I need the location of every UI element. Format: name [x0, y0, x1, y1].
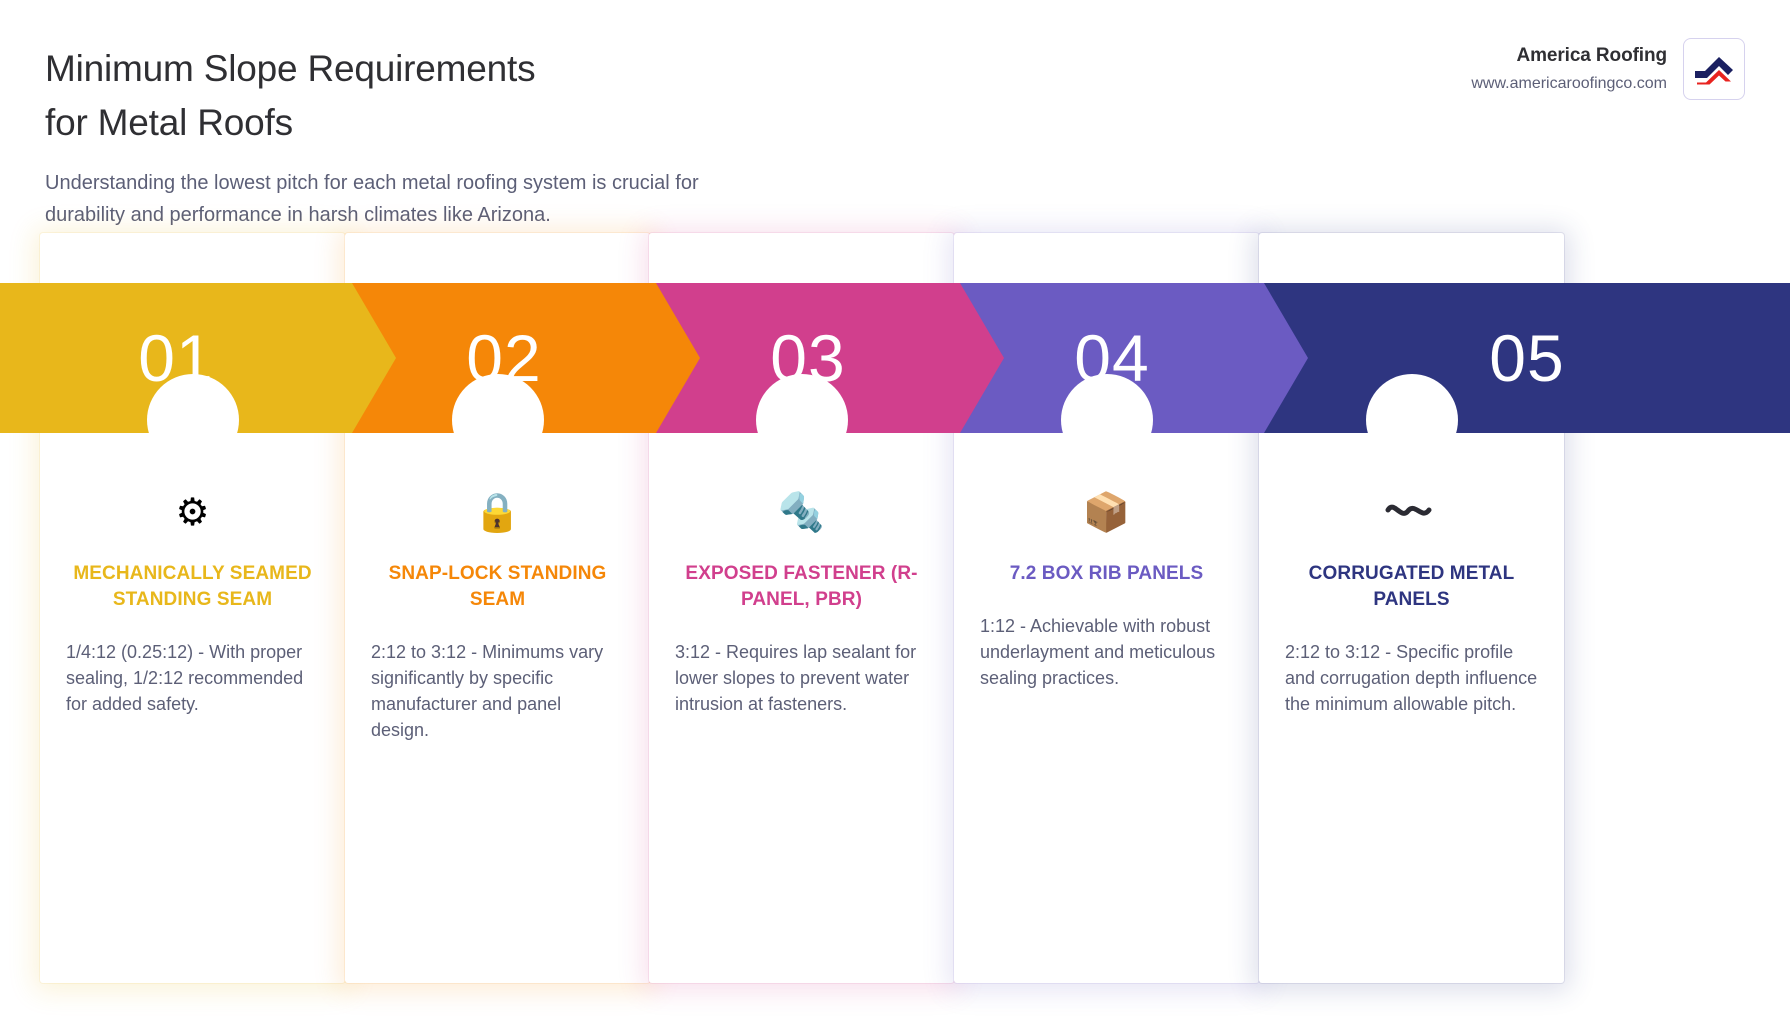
step-card-description: 1/4:12 (0.25:12) - With proper sealing, … — [62, 639, 323, 717]
steps-cards: ⚙MECHANICALLY SEAMED STANDING SEAM1/4:12… — [0, 233, 1790, 1024]
step-card-description: 2:12 to 3:12 - Specific profile and corr… — [1281, 639, 1542, 717]
brand-url: www.americaroofingco.com — [1471, 72, 1667, 96]
title-block: Minimum Slope Requirements for Metal Roo… — [45, 42, 805, 231]
step-card-body: 📦7.2 BOX RIB PANELS1:12 - Achievable wit… — [954, 485, 1259, 691]
step-card-body: 🔒SNAP-LOCK STANDING SEAM2:12 to 3:12 - M… — [345, 485, 650, 743]
step-card-description: 1:12 - Achievable with robust underlayme… — [976, 613, 1237, 691]
step-card-body: 🔩EXPOSED FASTENER (R-PANEL, PBR)3:12 - R… — [649, 485, 954, 717]
step-card-03[interactable]: 🔩EXPOSED FASTENER (R-PANEL, PBR)3:12 - R… — [649, 233, 954, 983]
roof-logo-icon — [1683, 38, 1745, 100]
step-card-body: ⚙MECHANICALLY SEAMED STANDING SEAM1/4:12… — [40, 485, 345, 717]
step-card-body: CORRUGATED METAL PANELS2:12 to 3:12 - Sp… — [1259, 485, 1564, 717]
brand-text: America Roofing www.americaroofingco.com — [1471, 43, 1667, 96]
step-card-title: MECHANICALLY SEAMED STANDING SEAM — [62, 561, 323, 613]
brand-name: America Roofing — [1471, 43, 1667, 69]
step-card-description: 2:12 to 3:12 - Minimums vary significant… — [367, 639, 628, 743]
header: Minimum Slope Requirements for Metal Roo… — [0, 0, 1790, 233]
step-card-title: EXPOSED FASTENER (R-PANEL, PBR) — [671, 561, 932, 613]
page-subtitle: Understanding the lowest pitch for each … — [45, 167, 705, 231]
nut-and-bolt-icon: 🔩 — [671, 485, 932, 541]
padlock-icon: 🔒 — [367, 485, 628, 541]
gear-icon: ⚙ — [62, 485, 323, 541]
page-title-line-1: Minimum Slope Requirements — [45, 42, 805, 96]
step-card-05[interactable]: CORRUGATED METAL PANELS2:12 to 3:12 - Sp… — [1259, 233, 1564, 983]
step-card-title: SNAP-LOCK STANDING SEAM — [367, 561, 628, 613]
step-card-01[interactable]: ⚙MECHANICALLY SEAMED STANDING SEAM1/4:12… — [40, 233, 345, 983]
infographic-page: Minimum Slope Requirements for Metal Roo… — [0, 0, 1790, 1024]
step-card-02[interactable]: 🔒SNAP-LOCK STANDING SEAM2:12 to 3:12 - M… — [345, 233, 650, 983]
step-card-title: 7.2 BOX RIB PANELS — [976, 561, 1237, 587]
page-title-line-2: for Metal Roofs — [45, 96, 805, 150]
step-card-description: 3:12 - Requires lap sealant for lower sl… — [671, 639, 932, 717]
step-card-04[interactable]: 📦7.2 BOX RIB PANELS1:12 - Achievable wit… — [954, 233, 1259, 983]
package-box-icon: 📦 — [976, 485, 1237, 541]
brand-block: America Roofing www.americaroofingco.com — [1471, 38, 1745, 100]
step-card-title: CORRUGATED METAL PANELS — [1281, 561, 1542, 613]
wavy-corrugation-icon — [1281, 485, 1542, 541]
